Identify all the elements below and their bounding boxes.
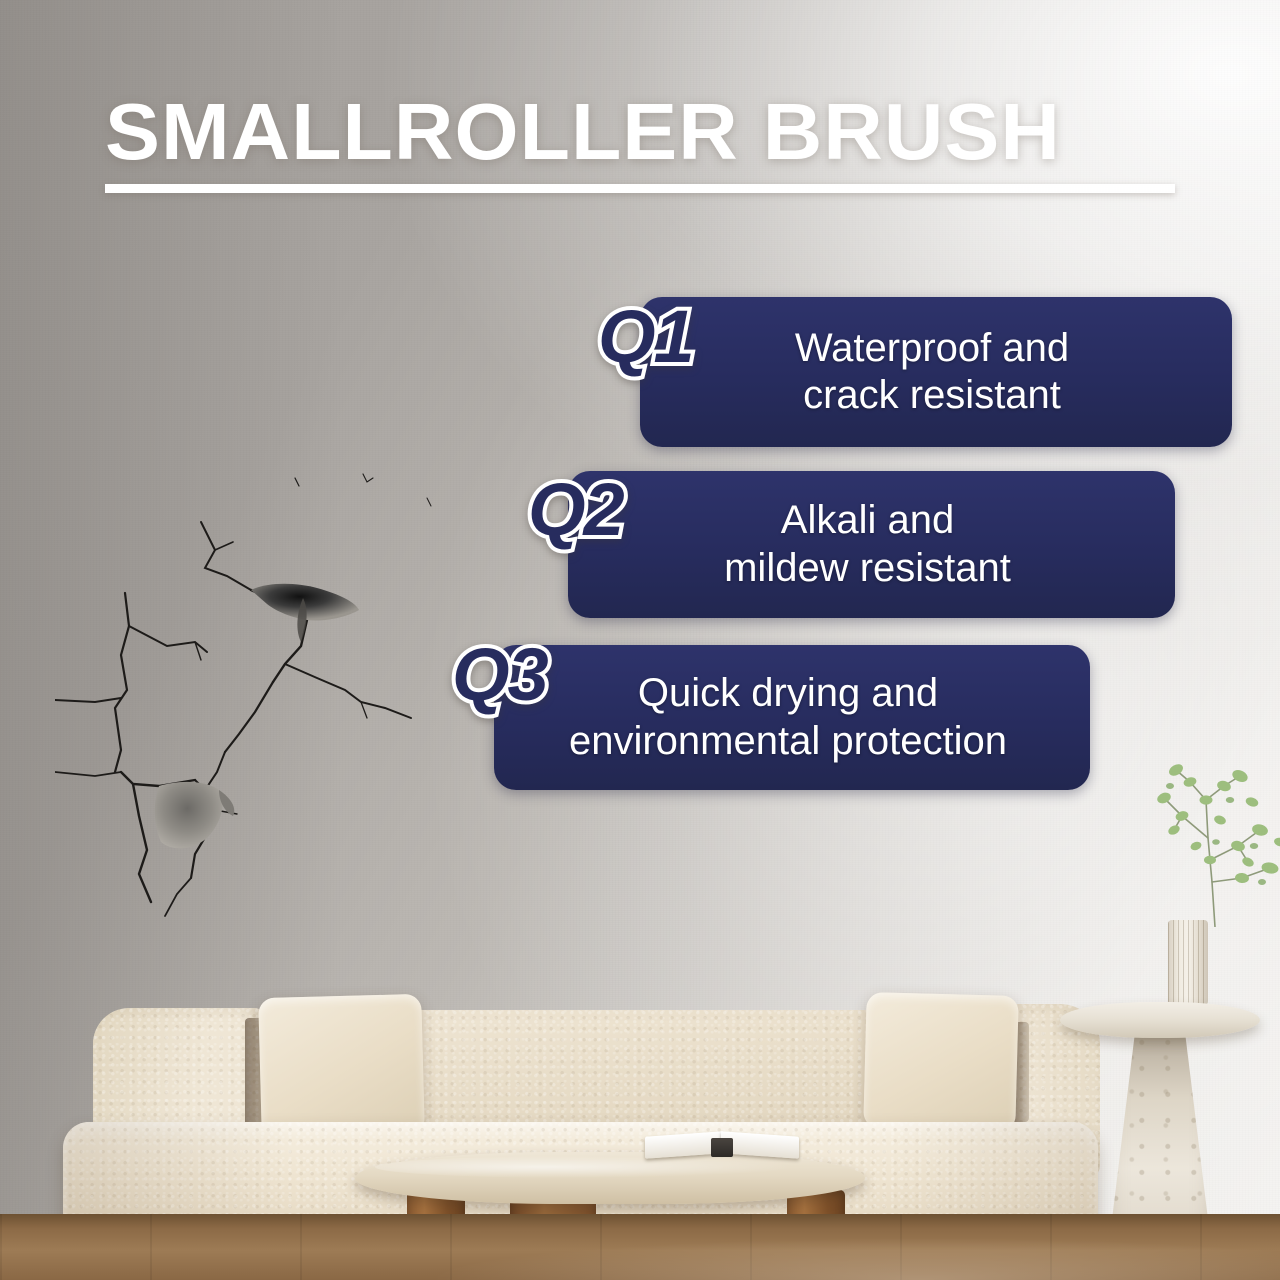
feature-text-2: Alkali and mildew resistant xyxy=(714,497,1029,591)
green-branch-plant xyxy=(1120,742,1280,927)
feature-text-3: Quick drying and environmental protectio… xyxy=(559,670,1025,764)
page-title: SMALLROLLER BRUSH xyxy=(105,92,1228,172)
floor-reflection xyxy=(0,1214,1280,1280)
feature-marker-q3: Q3 xyxy=(452,638,547,712)
wood-floor xyxy=(0,1214,1280,1280)
side-table-top xyxy=(1060,1002,1260,1038)
feature-badge-2: Alkali and mildew resistant xyxy=(568,471,1175,618)
title-underline xyxy=(105,184,1175,193)
feature-marker-q2: Q2 xyxy=(528,473,623,547)
wall-crack-damage xyxy=(55,450,455,920)
ribbed-ceramic-vase xyxy=(1168,920,1208,1006)
throw-pillow xyxy=(863,992,1019,1132)
feature-badge-3: Quick drying and environmental protectio… xyxy=(494,645,1090,790)
book-spine xyxy=(711,1138,733,1157)
feature-text-1: Waterproof and crack resistant xyxy=(785,325,1087,419)
feature-marker-q1: Q1 xyxy=(598,300,693,374)
feature-badge-1: Waterproof and crack resistant xyxy=(640,297,1232,447)
throw-pillow xyxy=(258,994,425,1138)
open-book xyxy=(645,1130,800,1160)
